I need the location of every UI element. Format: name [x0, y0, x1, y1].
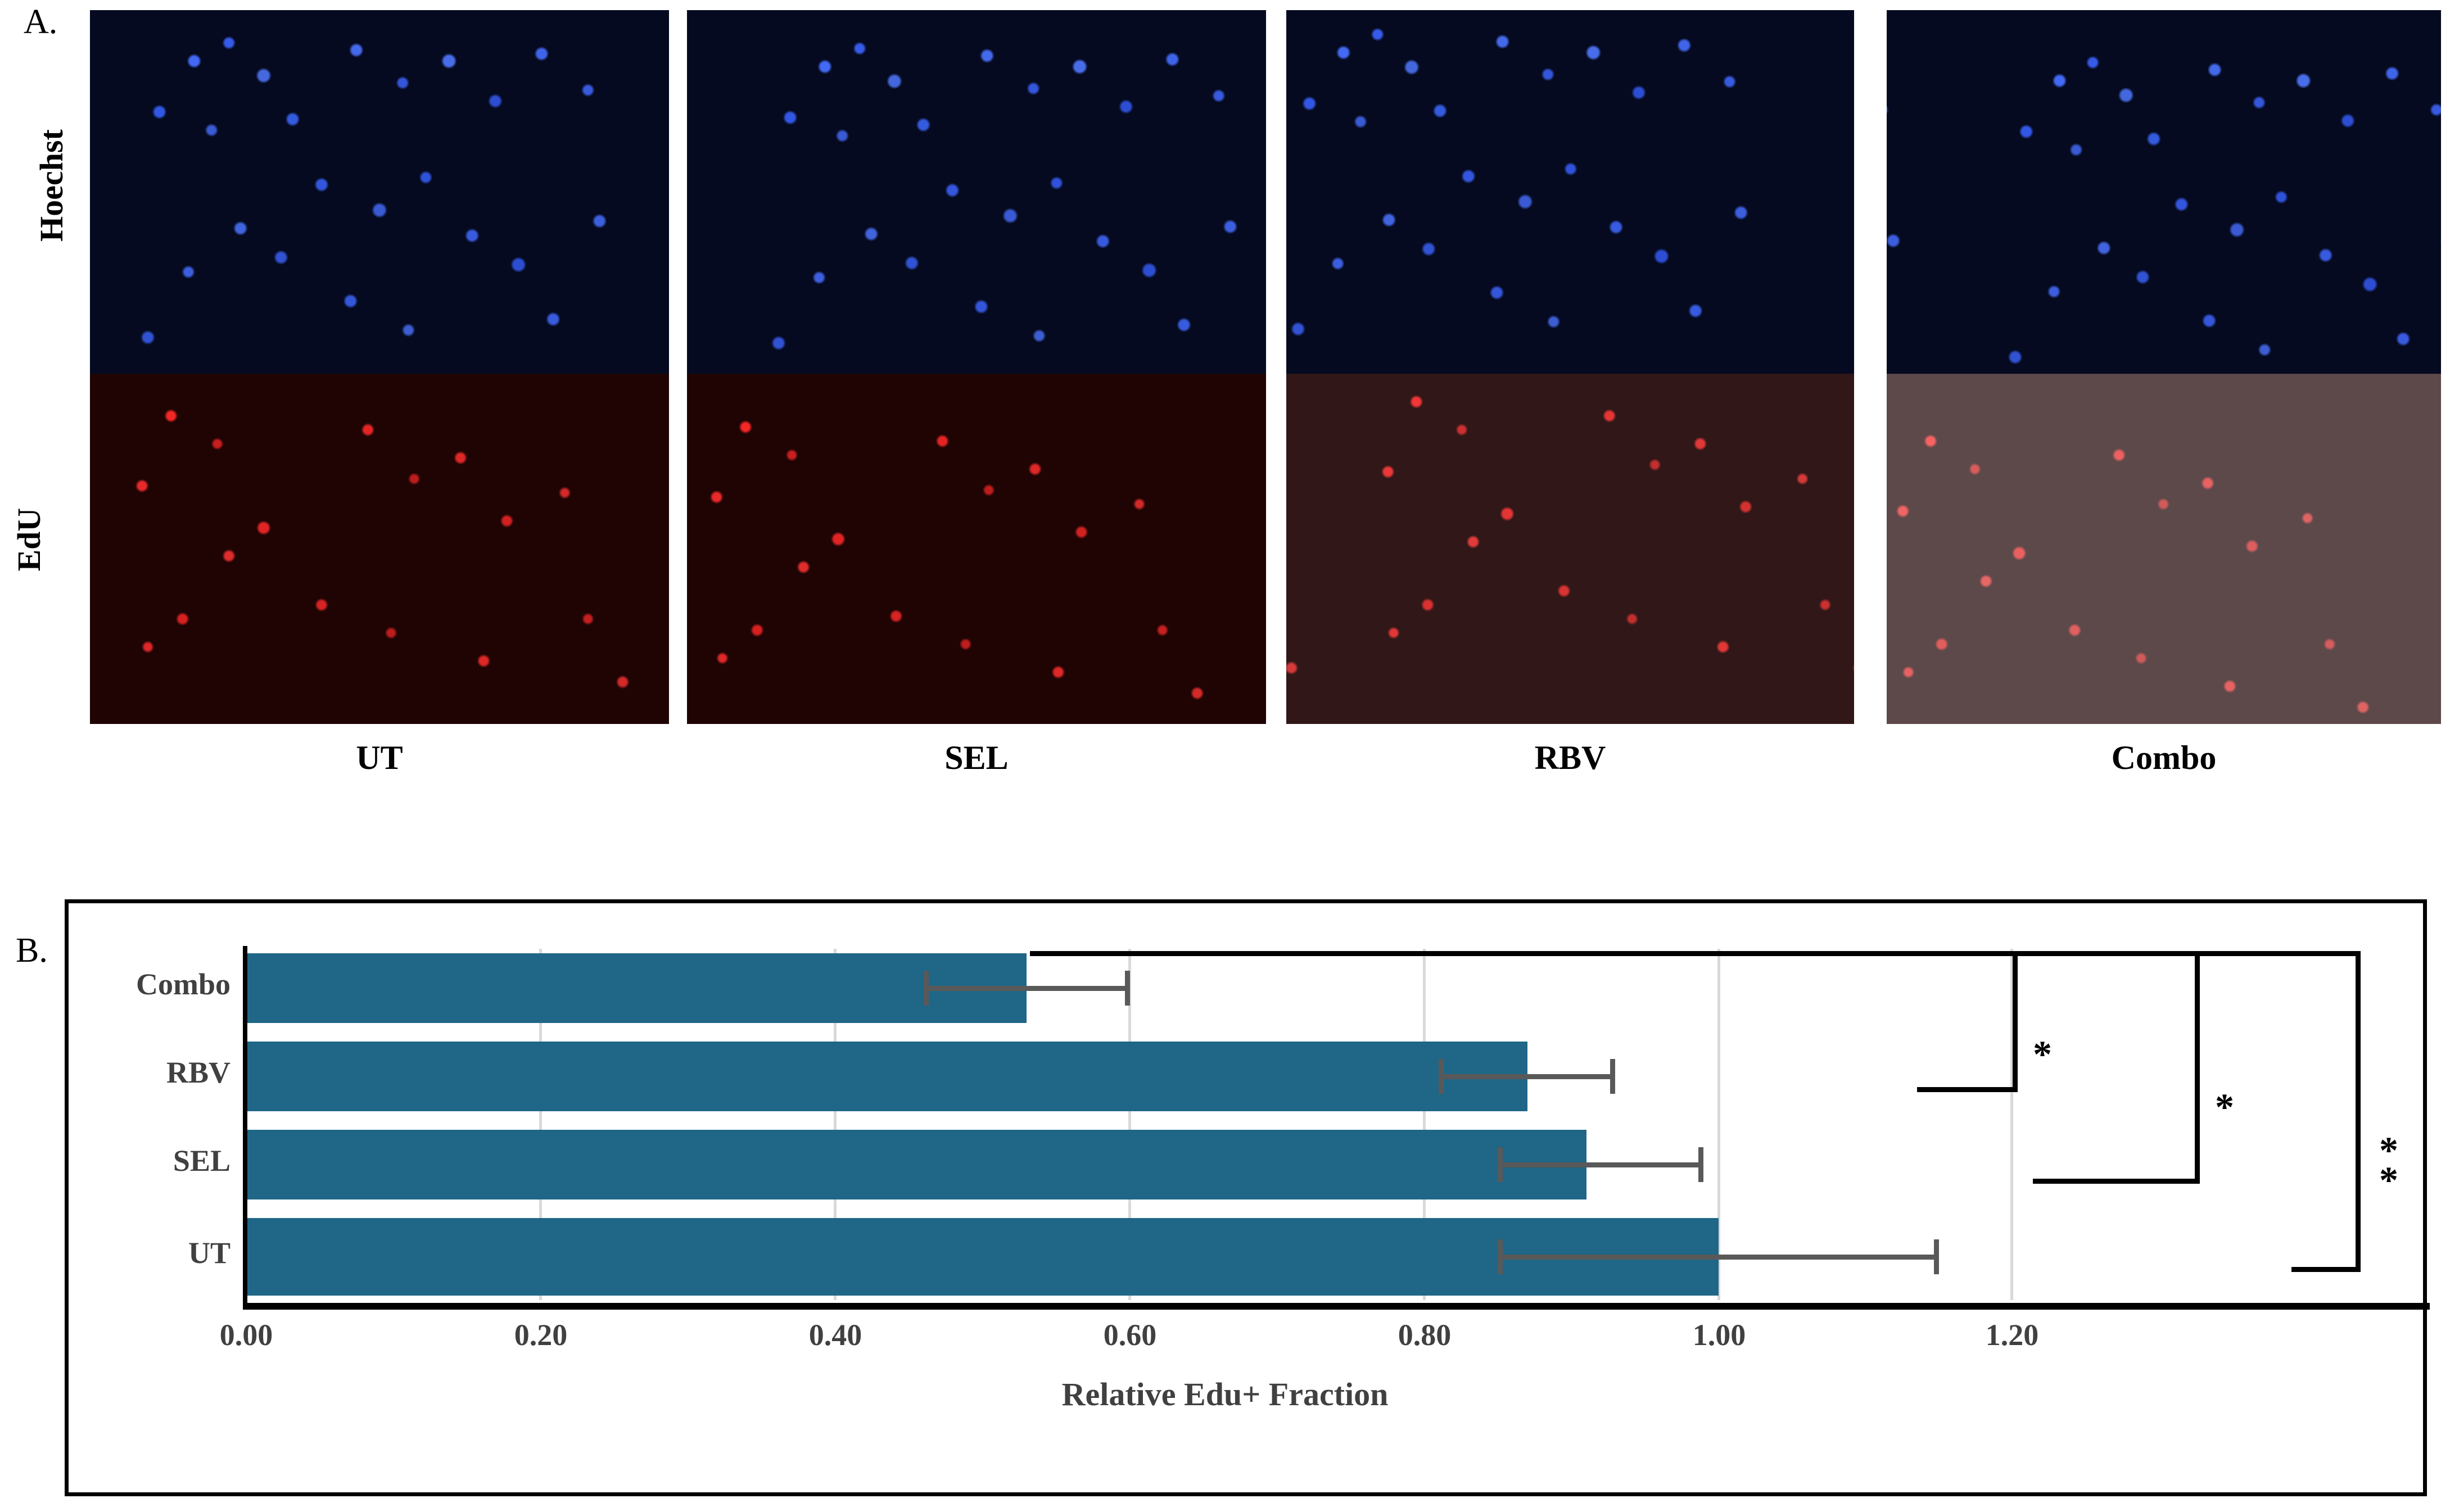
errorbar-line-sel: [1498, 1162, 1703, 1167]
row-label-edu: EdU: [12, 455, 46, 624]
category-label-combo: Combo: [45, 969, 230, 999]
y-axis-line: [243, 946, 247, 1306]
xtick-label-4: 0.80: [1351, 1320, 1498, 1350]
micro-column-rbv: [1286, 10, 1854, 724]
micro-image-edu-sel: [687, 374, 1266, 724]
micro-image-hoechst-ut: [90, 10, 669, 374]
column-label-combo: Combo: [1887, 741, 2441, 775]
micro-image-hoechst-combo: [1887, 10, 2441, 374]
sig-bracket-combo-sel-bottom: [2033, 1179, 2200, 1184]
sig-bracket-combo-sel-top: [2013, 951, 2200, 956]
sig-bracket-combo-ut-top: [2195, 951, 2361, 956]
category-label-sel: SEL: [45, 1146, 230, 1176]
errorbar-cap-high-combo: [1125, 971, 1130, 1006]
micro-image-hoechst-sel: [687, 10, 1266, 374]
chart-plot-area: [246, 949, 2013, 1300]
column-label-ut: UT: [90, 741, 669, 775]
errorbar-line-combo: [924, 986, 1130, 991]
x-axis-line: [243, 1303, 2430, 1310]
errorbar-cap-high-rbv: [1610, 1059, 1615, 1094]
xtick-label-1: 0.20: [468, 1320, 614, 1350]
micro-image-edu-rbv: [1286, 374, 1854, 724]
xtick-label-5: 1.00: [1646, 1320, 1792, 1350]
errorbar-line-rbv: [1439, 1074, 1615, 1079]
bar-rbv[interactable]: [246, 1042, 1527, 1111]
errorbar-cap-low-rbv: [1439, 1059, 1444, 1094]
errorbar-line-ut: [1498, 1255, 1939, 1260]
bar-sel[interactable]: [246, 1130, 1586, 1199]
column-label-rbv: RBV: [1286, 741, 1854, 775]
errorbar-cap-low-ut: [1498, 1239, 1503, 1274]
errorbar-cap-high-ut: [1934, 1239, 1939, 1274]
xtick-label-2: 0.40: [762, 1320, 908, 1350]
category-label-rbv: RBV: [45, 1057, 230, 1088]
micro-image-edu-ut: [90, 374, 669, 724]
column-label-sel: SEL: [687, 741, 1266, 775]
row-label-hoechst: Hoechst: [35, 101, 69, 270]
category-label-ut: UT: [45, 1238, 230, 1268]
xtick-label-0: 0.00: [173, 1320, 319, 1350]
sig-bracket-combo-rbv-bottom: [1917, 1087, 2018, 1092]
sig-marker-combo-sel: *: [2215, 1092, 2234, 1123]
micro-column-ut: [90, 10, 669, 724]
errorbar-cap-low-combo: [924, 971, 929, 1006]
sig-bracket-combo-sel-right: [2195, 951, 2200, 1183]
panel-a-letter: A.: [24, 4, 57, 39]
sig-bracket-combo-rbv-right: [2013, 951, 2018, 1092]
errorbar-cap-low-sel: [1498, 1147, 1503, 1182]
panel-b-letter: B.: [16, 933, 48, 968]
x-axis-title: Relative Edu+ Fraction: [0, 1378, 2450, 1411]
micro-image-edu-combo: [1887, 374, 2441, 724]
sig-marker-combo-ut: **: [2379, 1135, 2398, 1195]
figure-root: A. Hoechst EdU UT SEL RBV Combo B.: [0, 0, 2450, 1512]
xtick-label-6: 1.20: [1939, 1320, 2085, 1350]
sig-marker-combo-rbv: *: [2033, 1039, 2052, 1070]
xtick-label-3: 0.60: [1057, 1320, 1203, 1350]
panel-a-microscopy: A. Hoechst EdU UT SEL RBV Combo: [0, 0, 2450, 821]
micro-column-sel: [687, 10, 1266, 724]
sig-bracket-combo-rbv-top: [1030, 951, 2018, 956]
sig-bracket-combo-ut-bottom: [2291, 1267, 2361, 1272]
errorbar-cap-high-sel: [1698, 1147, 1703, 1182]
micro-column-combo: [1887, 10, 2441, 724]
micro-image-hoechst-rbv: [1286, 10, 1854, 374]
sig-bracket-combo-ut-right: [2356, 951, 2361, 1271]
bar-combo[interactable]: [246, 953, 1027, 1023]
